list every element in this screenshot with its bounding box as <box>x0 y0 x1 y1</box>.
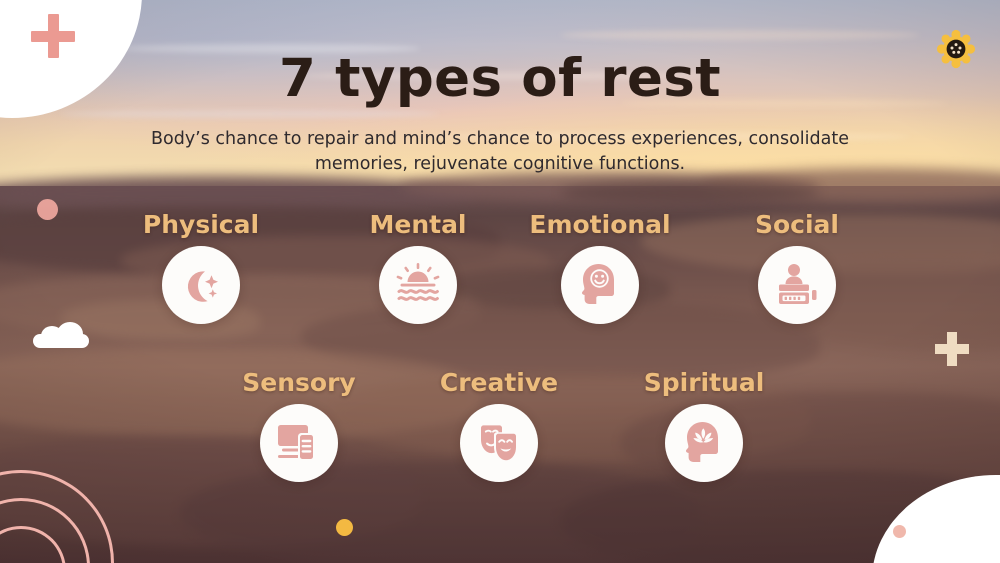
rest-type-spiritual[interactable]: Spiritual <box>629 368 779 482</box>
person-podium-icon <box>774 263 820 307</box>
head-lotus-icon <box>682 420 726 466</box>
icon-circle[interactable] <box>162 246 240 324</box>
icon-circle[interactable] <box>460 404 538 482</box>
slide-canvas: 7 types of rest Body’s chance to repair … <box>0 0 1000 563</box>
icon-circle[interactable] <box>260 404 338 482</box>
arcs-bottom-left-shape <box>0 470 118 563</box>
rest-type-label: Spiritual <box>629 368 779 398</box>
rest-type-label: Social <box>722 210 872 240</box>
icon-circle[interactable] <box>379 246 457 324</box>
dot-bottom-right-shape <box>893 525 906 538</box>
theater-masks-icon <box>476 422 522 464</box>
rest-type-emotional[interactable]: Emotional <box>525 210 675 324</box>
rest-type-label: Mental <box>343 210 493 240</box>
dot-bottom-shape <box>336 519 353 536</box>
icon-circle[interactable] <box>561 246 639 324</box>
rest-type-social[interactable]: Social <box>722 210 872 324</box>
rest-type-label: Sensory <box>224 368 374 398</box>
page-subtitle: Body’s chance to repair and mind’s chanc… <box>115 127 885 177</box>
icon-circle[interactable] <box>665 404 743 482</box>
rest-type-label: Emotional <box>525 210 675 240</box>
rest-type-label: Physical <box>126 210 276 240</box>
rest-type-mental[interactable]: Mental <box>343 210 493 324</box>
moon-stars-icon <box>178 262 224 308</box>
cloud-icon-left <box>33 322 89 348</box>
rest-type-creative[interactable]: Creative <box>424 368 574 482</box>
dot-left-shape <box>37 199 58 220</box>
rest-type-label: Creative <box>424 368 574 398</box>
plus-icon-right <box>935 332 969 366</box>
sunrise-waves-icon <box>394 263 442 307</box>
head-smiley-icon <box>578 262 622 308</box>
rest-type-physical[interactable]: Physical <box>126 210 276 324</box>
screens-devices-icon <box>276 422 322 464</box>
page-title: 7 types of rest <box>0 48 1000 109</box>
rest-type-sensory[interactable]: Sensory <box>224 368 374 482</box>
icon-circle[interactable] <box>758 246 836 324</box>
